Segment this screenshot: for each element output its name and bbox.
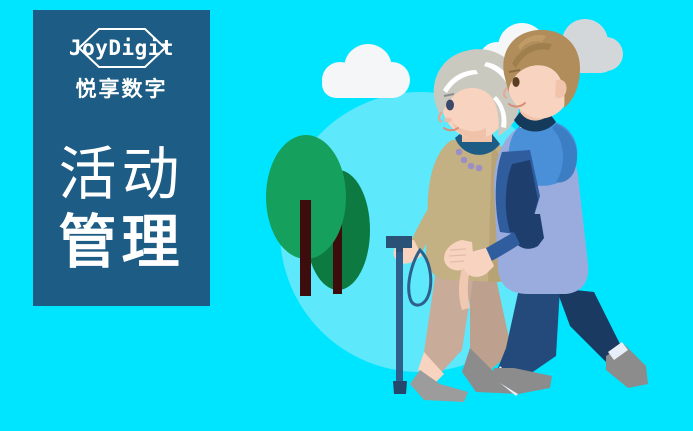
- page-title-line-1: 活动: [33, 140, 210, 208]
- logo-mark: JoyDigit: [48, 26, 196, 70]
- page-title: 活动 管理: [33, 140, 210, 276]
- poster-canvas: JoyDigit 悦享数字 活动 管理: [0, 0, 693, 431]
- logo-chinese-name: 悦享数字: [33, 73, 210, 103]
- cane-tip: [393, 381, 407, 394]
- elderly-cheek: [444, 118, 452, 123]
- cane-shaft: [396, 248, 403, 388]
- elderly-eye: [446, 100, 454, 111]
- brand-logo: JoyDigit 悦享数字: [33, 26, 210, 103]
- man-eye: [512, 77, 519, 87]
- logo-wordmark: JoyDigit: [48, 26, 196, 70]
- title-panel: JoyDigit 悦享数字 活动 管理: [33, 10, 210, 306]
- page-title-line-2: 管理: [33, 208, 210, 276]
